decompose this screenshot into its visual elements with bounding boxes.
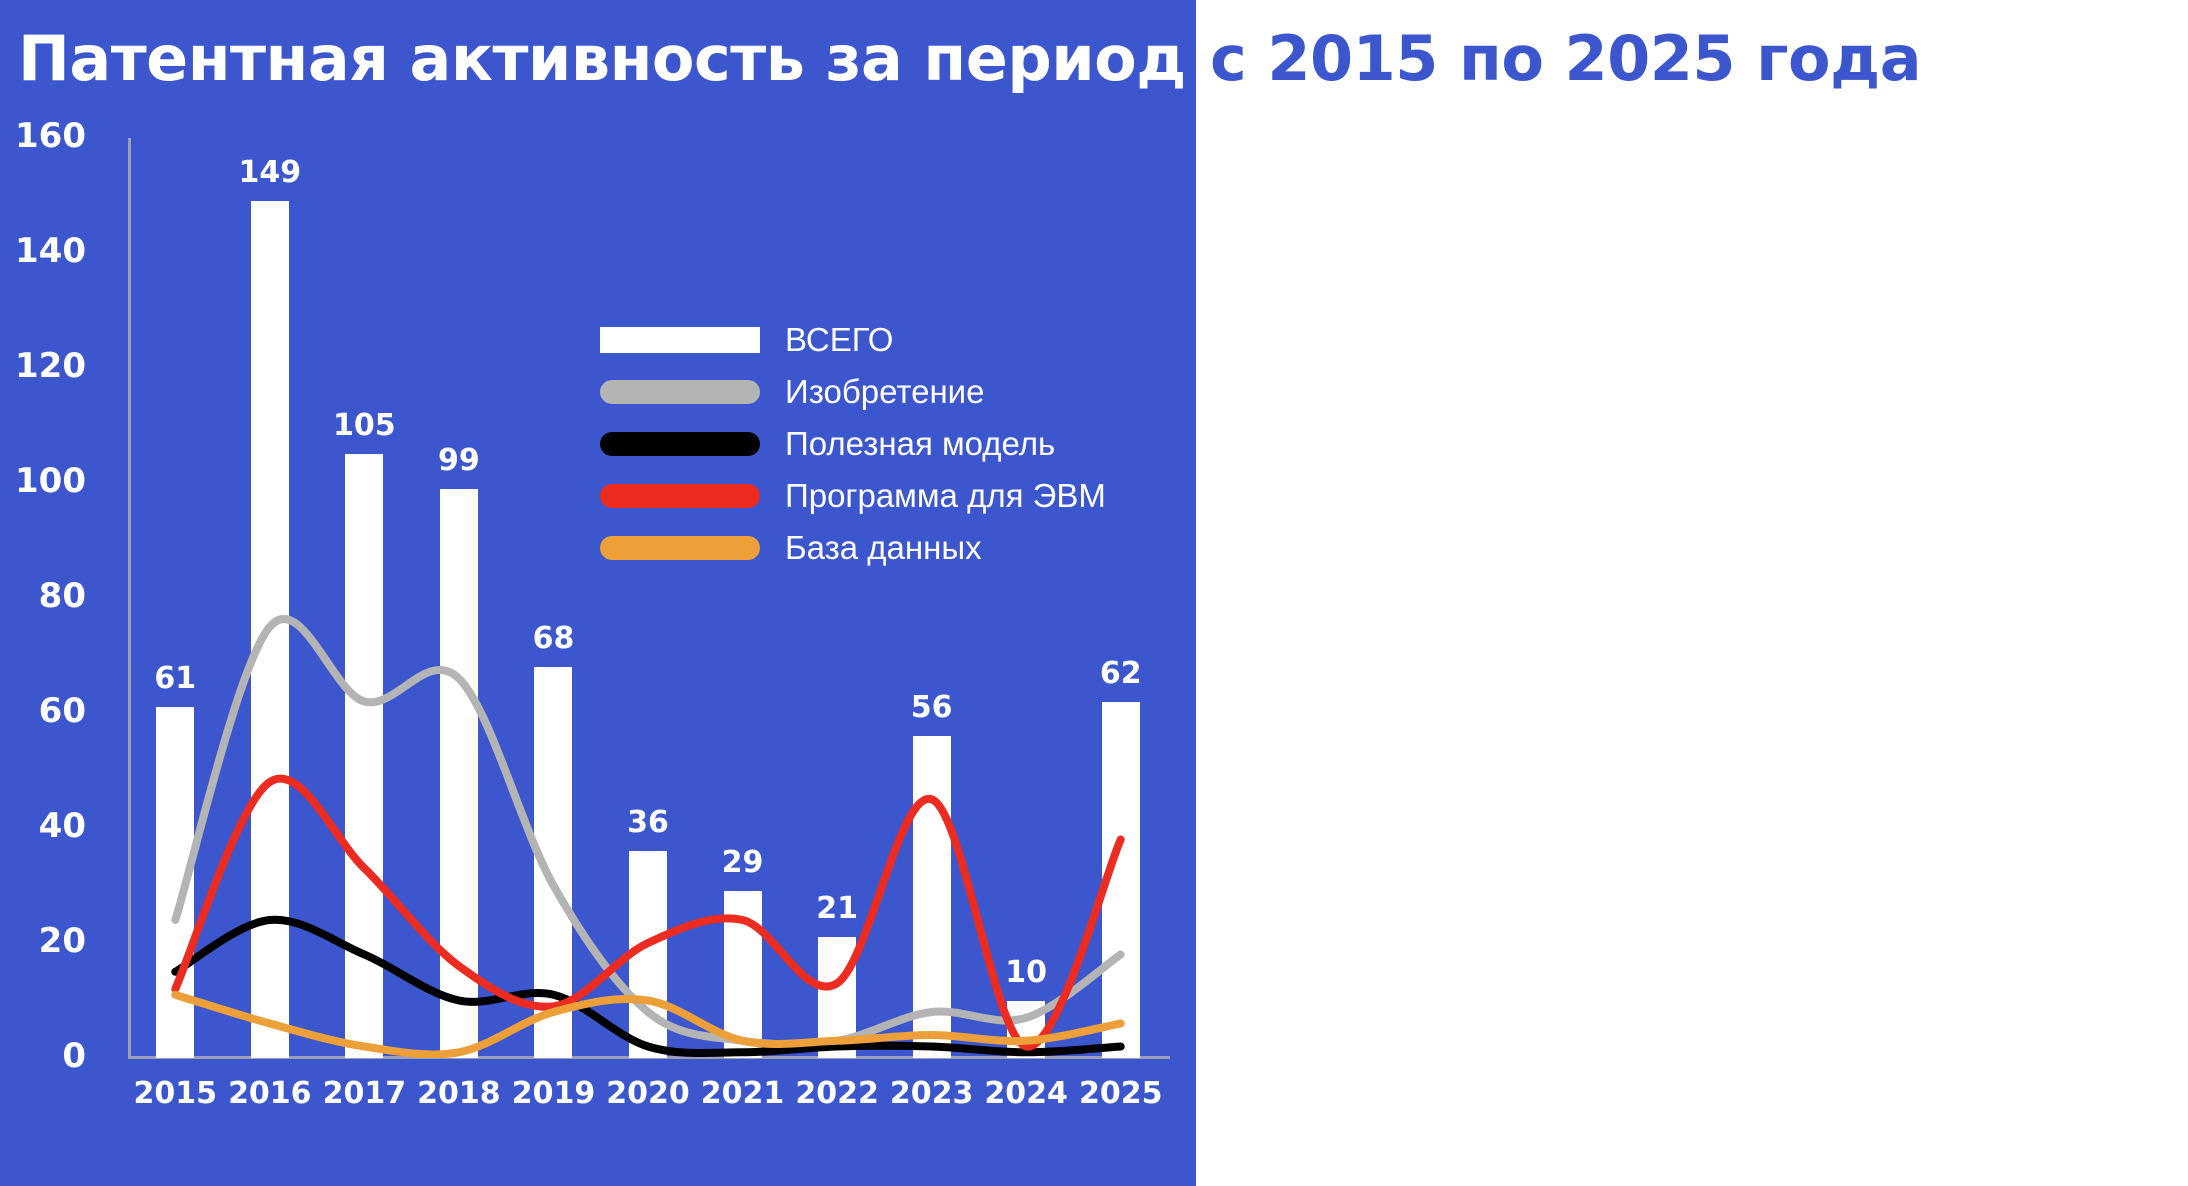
trend-lines: [128, 138, 1168, 1058]
legend-item-Изобретение[interactable]: Изобретение: [600, 372, 1120, 411]
y-tick-140: 140: [0, 231, 86, 271]
right-white-panel: 699 РИД за период с 2015-2025 гг. 1 свид…: [1196, 0, 2188, 1186]
y-tick-100: 100: [0, 461, 86, 501]
legend-label: ВСЕГО: [785, 321, 893, 359]
x-tick-2019: 2019: [506, 1076, 600, 1111]
y-tick-120: 120: [0, 346, 86, 386]
x-tick-2025: 2025: [1074, 1076, 1168, 1111]
legend-item-Полезная модель[interactable]: Полезная модель: [600, 424, 1120, 463]
x-tick-2020: 2020: [601, 1076, 695, 1111]
line-series-Изобретение: [175, 619, 1120, 1044]
y-tick-20: 20: [0, 921, 86, 961]
legend-swatch-icon: [600, 327, 760, 353]
x-tick-2018: 2018: [412, 1076, 506, 1111]
legend-item-ВСЕГО[interactable]: ВСЕГО: [600, 320, 1120, 359]
y-tick-160: 160: [0, 116, 86, 156]
legend-label: База данных: [785, 529, 982, 567]
y-tick-60: 60: [0, 691, 86, 731]
legend-swatch-icon: [600, 380, 760, 404]
x-tick-2021: 2021: [696, 1076, 790, 1111]
x-tick-2015: 2015: [128, 1076, 222, 1111]
x-tick-2022: 2022: [790, 1076, 884, 1111]
x-tick-2024: 2024: [979, 1076, 1073, 1111]
legend-swatch-icon: [600, 484, 760, 508]
x-tick-2023: 2023: [885, 1076, 979, 1111]
infographic-page: Патентная активность за период с 2015 по…: [0, 0, 2188, 1186]
x-tick-2017: 2017: [317, 1076, 411, 1111]
patent-activity-chart: 020406080100120140160 611491059968362921…: [0, 120, 1196, 1120]
y-tick-80: 80: [0, 576, 86, 616]
legend-item-Программа для ЭВМ[interactable]: Программа для ЭВМ: [600, 476, 1120, 515]
legend-label: Программа для ЭВМ: [785, 477, 1106, 515]
line-series-Программа для ЭВМ: [175, 779, 1120, 1047]
chart-legend: ВСЕГОИзобретениеПолезная модельПрограмма…: [600, 320, 1120, 580]
legend-swatch-icon: [600, 432, 760, 456]
x-tick-2016: 2016: [223, 1076, 317, 1111]
legend-label: Изобретение: [785, 373, 984, 411]
legend-label: Полезная модель: [785, 425, 1055, 463]
y-tick-40: 40: [0, 806, 86, 846]
legend-swatch-icon: [600, 536, 760, 560]
legend-item-База данных[interactable]: База данных: [600, 528, 1120, 567]
y-tick-0: 0: [0, 1036, 86, 1076]
